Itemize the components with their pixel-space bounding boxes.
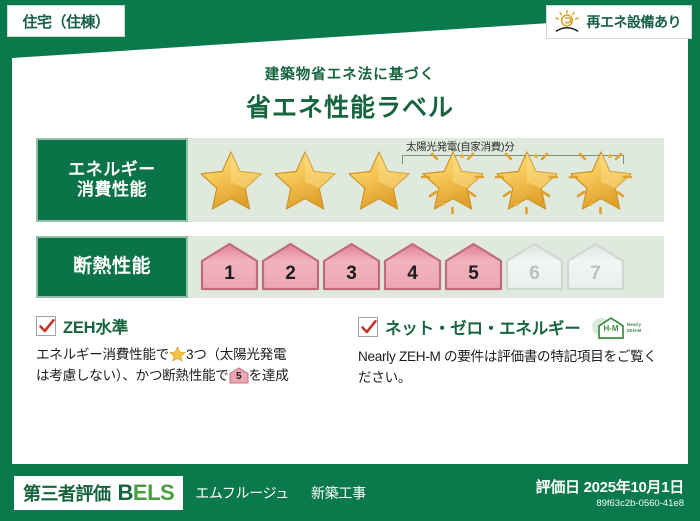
insulation-level-badge: 4	[383, 242, 442, 292]
insulation-level-number: 6	[505, 263, 564, 285]
bels-certification-box: 第三者評価 BELS	[14, 476, 183, 510]
insulation-level-number: 7	[566, 263, 625, 285]
star-rating	[188, 144, 664, 216]
star-icon	[194, 144, 267, 216]
heading-subtitle: 建築物省エネ法に基づく	[12, 63, 688, 84]
insulation-level-badge: 1	[200, 242, 259, 292]
insulation-level-number: 1	[200, 263, 259, 285]
energy-performance-row: エネルギー 消費性能 太陽光発電(自家消費)分	[36, 138, 664, 222]
check-icon	[360, 318, 378, 336]
evaluation-info: 評価日 2025年10月1日 89f63c2b-0560-41e8	[536, 476, 684, 509]
criterion-zeh-standard: ZEH水準 エネルギー消費性能で 3つ（太陽光発電は考慮しない）、かつ断熱性能で…	[36, 314, 342, 388]
inline-house-badge: 5	[229, 367, 249, 384]
insulation-level-number: 4	[383, 263, 442, 285]
insulation-level-scale: 1 2 3 4 5	[188, 242, 625, 292]
star-icon-solar	[490, 144, 563, 216]
criteria-section: ZEH水準 エネルギー消費性能で 3つ（太陽光発電は考慮しない）、かつ断熱性能で…	[36, 314, 664, 388]
net-zero-description: Nearly ZEH-M の要件は評価書の特記項目をご覧ください。	[358, 347, 664, 388]
insulation-level-badge: 7	[566, 242, 625, 292]
label-sheet: 建築物省エネ法に基づく 省エネ性能ラベル エネルギー 消費性能 太陽光発電(自家…	[12, 0, 688, 464]
energy-row-label: エネルギー 消費性能	[36, 138, 188, 222]
zeh-standard-description: エネルギー消費性能で 3つ（太陽光発電は考慮しない）、かつ断熱性能で 5 を達成	[36, 345, 342, 386]
renewable-equipment-badge: 再エネ設備あり	[546, 5, 693, 39]
sun-icon	[553, 9, 581, 35]
zeh-desc-star-count: 3つ（太陽光発電	[186, 347, 286, 362]
star-icon	[342, 144, 415, 216]
zeh-desc-part3: を達成	[249, 368, 289, 383]
insulation-level-badge: 3	[322, 242, 381, 292]
inline-star-icon	[169, 346, 186, 362]
zeh-standard-checkbox[interactable]	[36, 316, 56, 336]
check-icon	[38, 317, 56, 335]
svg-text:ZEH-M: ZEH-M	[626, 328, 641, 333]
insulation-level-number: 2	[261, 263, 320, 285]
insulation-row-label: 断熱性能	[36, 236, 188, 298]
insulation-performance-row: 断熱性能 1 2 3	[36, 236, 664, 298]
zeh-m-logo-icon: H-M Nearly ZEH-M	[590, 314, 646, 340]
energy-row-body: 太陽光発電(自家消費)分	[188, 138, 664, 222]
building-type-label: 住宅（住棟）	[22, 11, 109, 32]
label-footer: 第三者評価 BELS エムフルージュ 新築工事 評価日 2025年10月1日 8…	[0, 464, 700, 521]
insulation-level-number: 5	[444, 263, 503, 285]
energy-performance-label: 住宅（住棟） 再エネ設備あり 建築物省エネ法に基づく	[0, 0, 700, 521]
bels-letters-els: ELS	[133, 480, 174, 505]
energy-row-label-line2: 消費性能	[77, 180, 147, 200]
svg-text:Nearly: Nearly	[627, 322, 641, 327]
zeh-standard-header: ZEH水準	[36, 314, 342, 338]
star-icon-solar	[564, 144, 637, 216]
star-icon-solar	[416, 144, 489, 216]
net-zero-title: ネット・ゼロ・エネルギー	[385, 315, 581, 339]
zeh-standard-title: ZEH水準	[63, 314, 128, 338]
zeh-desc-part1: エネルギー消費性能で	[36, 347, 169, 362]
insulation-level-badge: 2	[261, 242, 320, 292]
bels-en-label: BELS	[118, 480, 175, 506]
evaluation-date: 評価日 2025年10月1日	[536, 476, 684, 497]
net-zero-header: ネット・ゼロ・エネルギー H-M Nearly ZEH-M	[358, 314, 664, 340]
zeh-desc-part2: は考慮しない）、かつ断熱性能で	[36, 368, 229, 383]
building-type-tag: 住宅（住棟）	[7, 5, 125, 37]
insulation-level-badge: 5	[444, 242, 503, 292]
energy-row-label-line1: エネルギー	[68, 160, 156, 180]
evaluation-id: 89f63c2b-0560-41e8	[536, 498, 684, 509]
net-zero-checkbox[interactable]	[358, 317, 378, 337]
bels-jp-label: 第三者評価	[23, 480, 111, 506]
heading-title: 省エネ性能ラベル	[12, 88, 688, 124]
label-heading: 建築物省エネ法に基づく 省エネ性能ラベル	[12, 58, 688, 124]
project-name: エムフルージュ	[195, 483, 289, 503]
insulation-level-number: 3	[322, 263, 381, 285]
criterion-net-zero-energy: ネット・ゼロ・エネルギー H-M Nearly ZEH-M Nearly ZEH…	[358, 314, 664, 388]
performance-rows: エネルギー 消費性能 太陽光発電(自家消費)分	[36, 138, 664, 298]
bels-letter-b: B	[118, 480, 133, 505]
insulation-row-body: 1 2 3 4 5	[188, 236, 664, 298]
renewable-badge-label: 再エネ設備あり	[587, 12, 682, 32]
svg-text:H-M: H-M	[603, 324, 618, 333]
insulation-level-badge: 6	[505, 242, 564, 292]
insulation-row-label-text: 断熱性能	[73, 256, 151, 278]
star-icon	[268, 144, 341, 216]
inline-house-number: 5	[229, 367, 249, 384]
work-type: 新築工事	[311, 483, 366, 503]
